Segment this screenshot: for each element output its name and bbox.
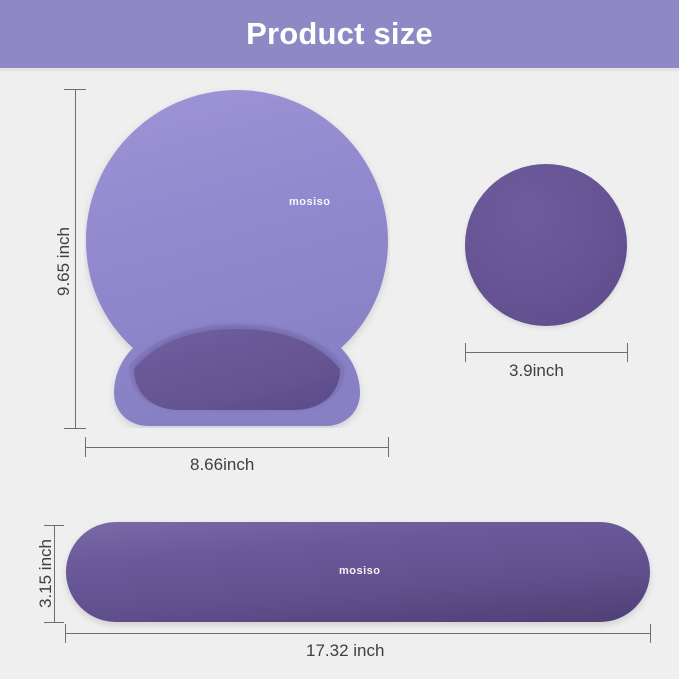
mousepad-brand-logo: mosiso <box>289 196 331 208</box>
mousepad-height-dimension-cap-top <box>64 89 86 90</box>
page-title: Product size <box>246 16 433 52</box>
coaster-diameter-label: 3.9inch <box>509 361 564 381</box>
mousepad-height-dimension-cap-bottom <box>64 428 86 429</box>
mousepad-width-dimension-cap-right <box>388 437 389 457</box>
mousepad-shape <box>84 88 390 428</box>
mousepad-illustration: mosiso <box>84 88 390 428</box>
product-size-infographic: Product size <box>0 0 679 679</box>
coaster-diameter-dimension-line <box>465 352 628 353</box>
wrist-rest-height-dimension-cap-top <box>44 525 64 526</box>
coaster-diameter-dimension-cap-left <box>465 343 466 362</box>
mousepad-width-label: 8.66inch <box>190 455 254 475</box>
wrist-rest-height-dimension-cap-bottom <box>44 622 64 623</box>
wrist-rest-height-label: 3.15 inch <box>36 539 56 608</box>
mousepad-width-dimension-cap-left <box>85 437 86 457</box>
wrist-rest-width-label: 17.32 inch <box>306 641 384 661</box>
wrist-rest-width-dimension-cap-left <box>65 624 66 643</box>
wrist-rest-brand-logo: mosiso <box>339 565 381 577</box>
wrist-rest-width-dimension-cap-right <box>650 624 651 643</box>
wrist-rest-width-dimension-line <box>65 633 651 634</box>
header-banner: Product size <box>0 0 679 68</box>
mousepad-height-dimension-line <box>75 89 76 428</box>
header-divider <box>0 68 679 71</box>
coaster-illustration <box>465 164 627 326</box>
mousepad-height-label: 9.65 inch <box>54 227 74 296</box>
coaster-diameter-dimension-cap-right <box>627 343 628 362</box>
mousepad-width-dimension-line <box>85 447 389 448</box>
